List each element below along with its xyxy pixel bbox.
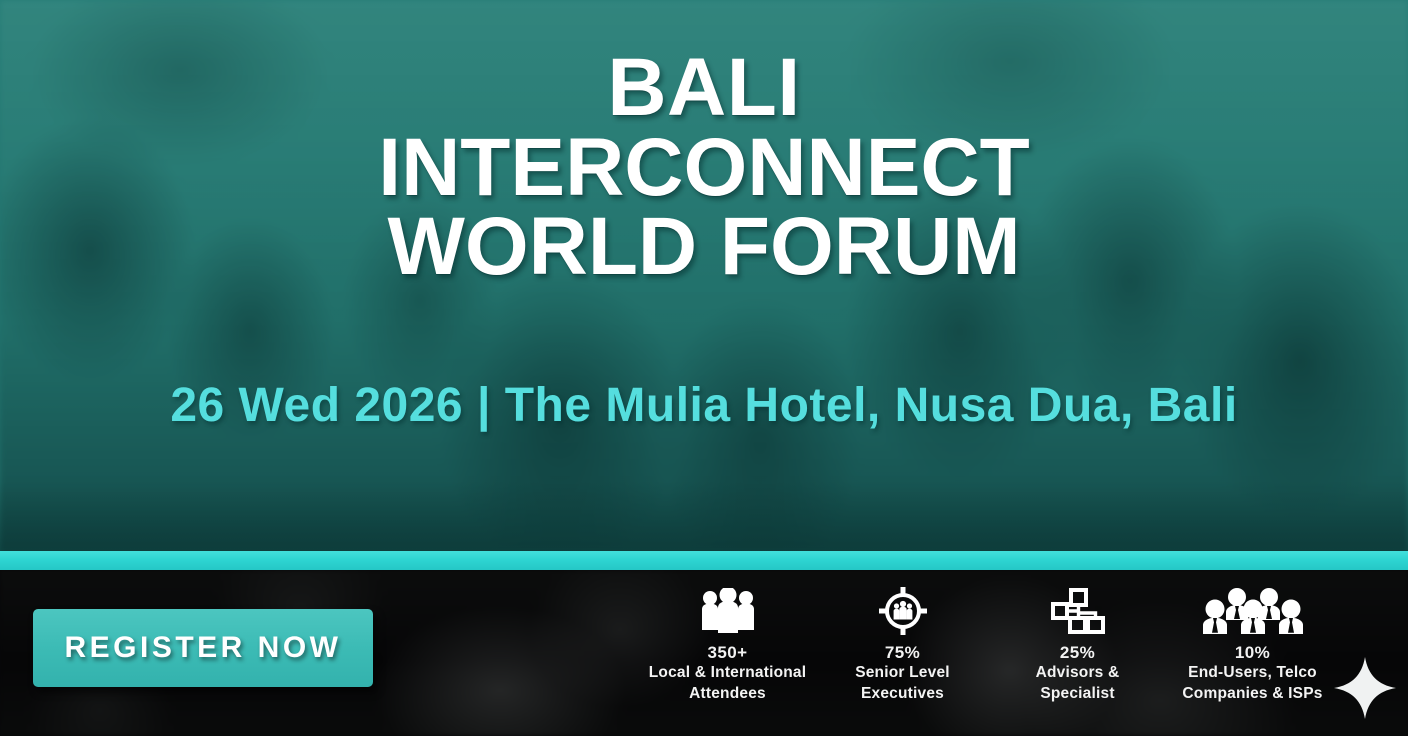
stats-row: 350+ Local & International Attendees	[640, 585, 1340, 735]
event-title-block: BALI INTERCONNECT WORLD FORUM	[0, 0, 1408, 287]
event-banner: BALI INTERCONNECT WORLD FORUM 26 Wed 202…	[0, 0, 1408, 736]
title-line-3: WORLD FORUM	[0, 207, 1408, 287]
stat-item: 10% End-Users, Telco Companies & ISPs	[1165, 585, 1340, 704]
stat-value: 75%	[885, 642, 920, 663]
crowd-business-people-icon	[1201, 585, 1305, 637]
target-audience-icon	[877, 585, 929, 637]
stat-value: 25%	[1060, 642, 1095, 663]
event-date-venue: 26 Wed 2026 | The Mulia Hotel, Nusa Dua,…	[0, 378, 1408, 433]
stat-label: Advisors & Specialist	[1036, 663, 1120, 704]
four-point-sparkle-icon	[1332, 655, 1398, 721]
stat-item: 25% Advisors & Specialist	[990, 585, 1165, 704]
stat-item: 75% Senior Level Executives	[815, 585, 990, 704]
title-line-2: INTERCONNECT	[0, 128, 1408, 208]
stat-label: End-Users, Telco Companies & ISPs	[1182, 663, 1322, 704]
stat-label: Senior Level Executives	[855, 663, 950, 704]
stat-value: 10%	[1235, 642, 1270, 663]
three-people-icon	[697, 585, 759, 637]
stat-label: Local & International Attendees	[649, 663, 807, 704]
title-line-1: BALI	[0, 48, 1408, 128]
hero-bottom-shade	[0, 481, 1408, 551]
register-now-button[interactable]: REGISTER NOW	[33, 609, 373, 687]
register-now-label: REGISTER NOW	[64, 631, 341, 665]
stat-item: 350+ Local & International Attendees	[640, 585, 815, 704]
org-chart-icon	[1050, 585, 1106, 637]
cyan-divider-bar	[0, 551, 1408, 570]
stat-value: 350+	[708, 642, 748, 663]
